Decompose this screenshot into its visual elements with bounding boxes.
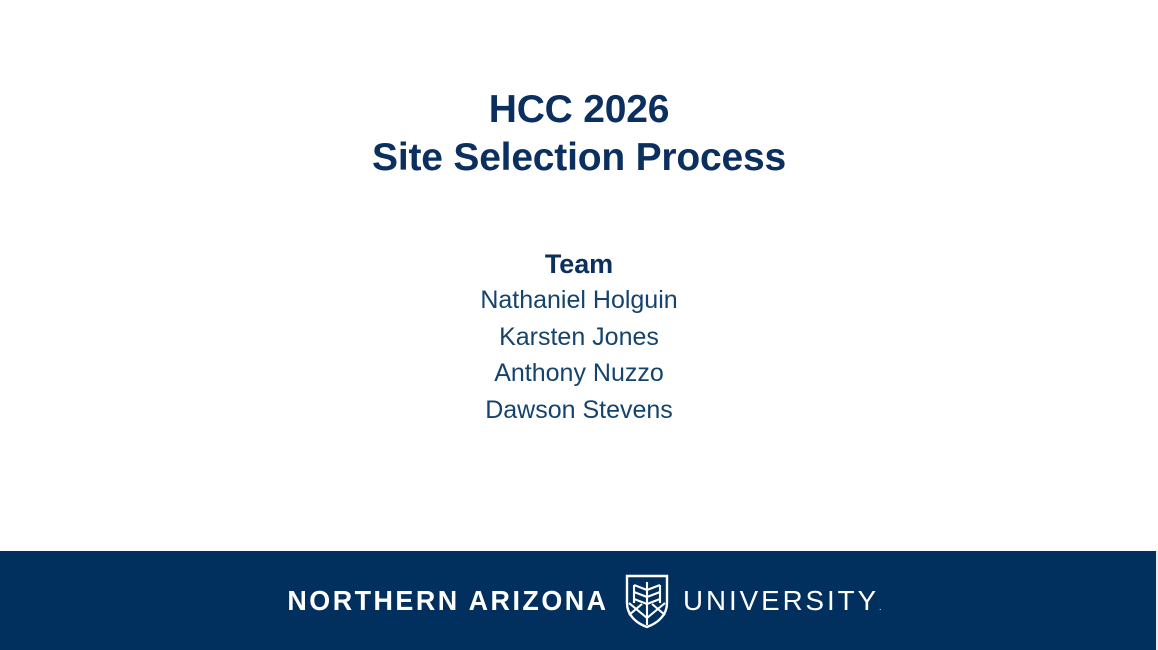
title-line-secondary: Site Selection Process xyxy=(0,134,1158,182)
team-heading: Team xyxy=(0,246,1158,282)
wordmark-university: UNIVERSITY. xyxy=(683,587,882,615)
presentation-slide: HCC 2026 Site Selection Process Team Nat… xyxy=(0,0,1158,650)
team-member-4: Dawson Stevens xyxy=(0,392,1158,429)
title-line-primary: HCC 2026 xyxy=(0,86,1158,134)
wordmark-university-text: UNIVERSITY xyxy=(683,585,879,616)
team-member-2: Karsten Jones xyxy=(0,319,1158,356)
team-member-1: Nathaniel Holguin xyxy=(0,282,1158,319)
nau-shield-icon xyxy=(624,573,670,629)
page-title: HCC 2026 Site Selection Process xyxy=(0,86,1158,182)
wordmark-northern-arizona: NORTHERN ARIZONA xyxy=(288,587,609,615)
team-section: Team Nathaniel Holguin Karsten Jones Ant… xyxy=(0,246,1158,428)
trademark-mark: . xyxy=(879,602,881,612)
university-logo-lockup: NORTHERN ARIZONA xyxy=(0,551,1158,650)
team-member-3: Anthony Nuzzo xyxy=(0,355,1158,392)
